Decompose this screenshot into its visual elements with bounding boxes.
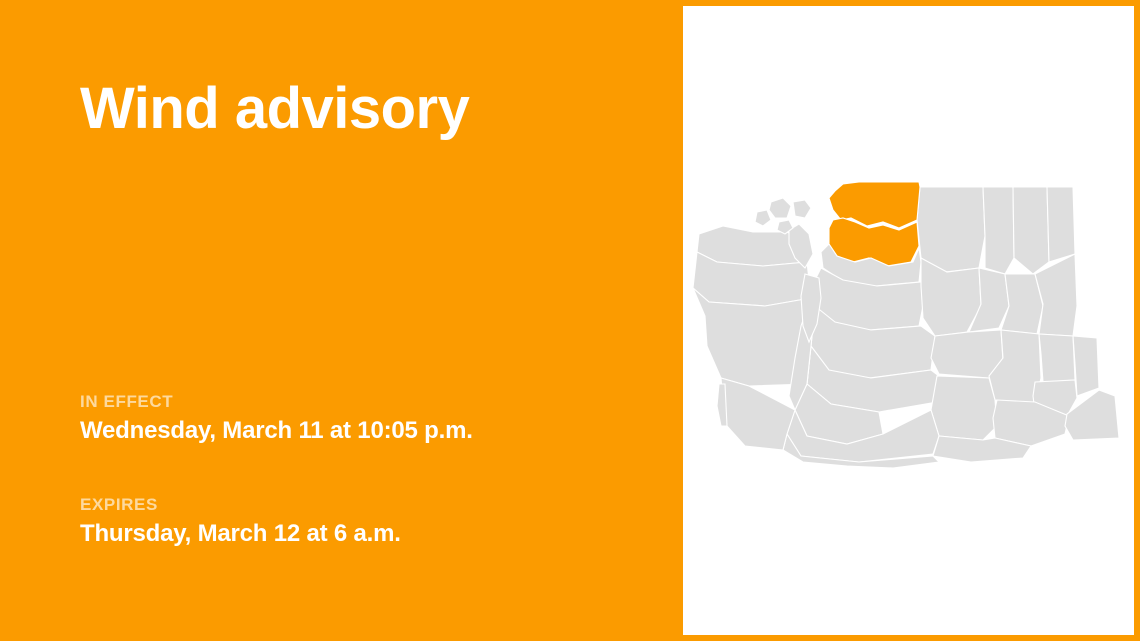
county-whitman — [1073, 336, 1099, 396]
county-kittitas — [931, 330, 1003, 378]
coast-long-beach-peninsula — [717, 384, 727, 426]
county-san-juan-3 — [755, 210, 771, 226]
county-san-juan-1 — [769, 198, 791, 218]
alert-title: Wind advisory — [80, 79, 469, 140]
weather-alert-card: Wind advisory IN EFFECT Wednesday, March… — [0, 0, 1140, 641]
county-pacific — [721, 378, 795, 450]
county-yakima — [931, 376, 997, 440]
expires-block: EXPIRES Thursday, March 12 at 6 a.m. — [80, 495, 401, 549]
county-layer — [693, 182, 1119, 468]
county-pend-oreille — [1047, 187, 1075, 262]
county-san-juan-2 — [793, 200, 811, 218]
alert-info-panel: Wind advisory IN EFFECT Wednesday, March… — [0, 0, 683, 641]
washington-state-map — [683, 6, 1134, 635]
county-okanogan — [917, 187, 985, 272]
in-effect-block: IN EFFECT Wednesday, March 11 at 10:05 p… — [80, 392, 473, 446]
state-map-panel — [683, 6, 1134, 635]
expires-label: EXPIRES — [80, 495, 401, 515]
county-stevens — [1013, 187, 1049, 274]
county-adams — [1039, 334, 1075, 382]
in-effect-label: IN EFFECT — [80, 392, 473, 412]
county-ferry — [983, 187, 1014, 274]
in-effect-value: Wednesday, March 11 at 10:05 p.m. — [80, 417, 473, 446]
expires-value: Thursday, March 12 at 6 a.m. — [80, 520, 401, 549]
